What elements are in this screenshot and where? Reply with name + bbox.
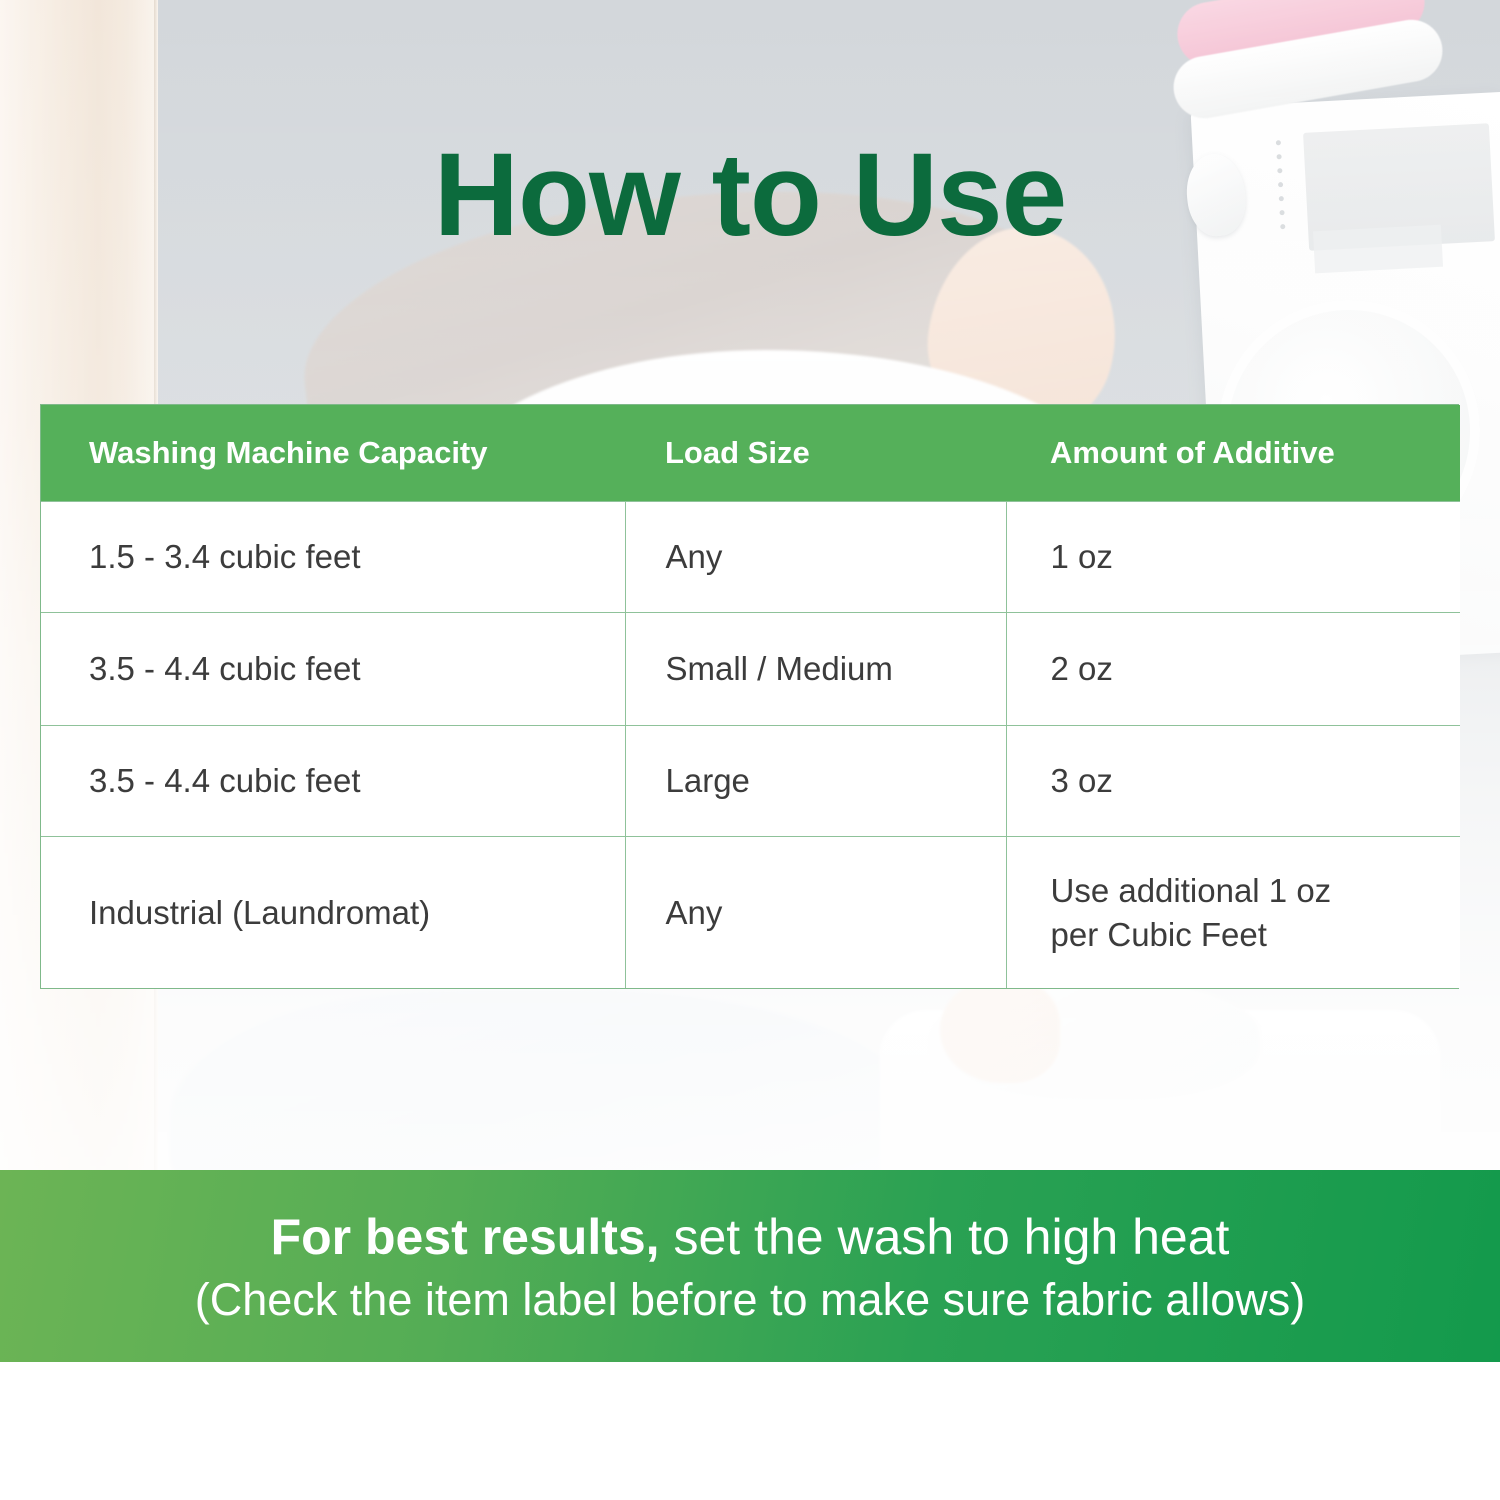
table-row: 3.5 - 4.4 cubic feet Large 3 oz <box>41 726 1460 837</box>
cell-additive: 1 oz <box>1006 502 1460 613</box>
cell-capacity: Industrial (Laundromat) <box>41 837 625 989</box>
infographic-page: How to Use Washing Machine Capacity Load… <box>0 0 1500 1500</box>
table-row: Industrial (Laundromat) Any Use addition… <box>41 837 1460 989</box>
cell-load-size: Small / Medium <box>625 613 1006 726</box>
table-body: 1.5 - 3.4 cubic feet Any 1 oz 3.5 - 4.4 … <box>41 502 1460 989</box>
cell-additive-line-2: per Cubic Feet <box>1051 913 1461 957</box>
cell-capacity: 3.5 - 4.4 cubic feet <box>41 726 625 837</box>
cell-additive: 3 oz <box>1006 726 1460 837</box>
usage-table-container: Washing Machine Capacity Load Size Amoun… <box>40 404 1459 989</box>
cell-capacity: 3.5 - 4.4 cubic feet <box>41 613 625 726</box>
cell-load-size: Any <box>625 837 1006 989</box>
cell-load-size: Large <box>625 726 1006 837</box>
banner-secondary-line: (Check the item label before to make sur… <box>195 1273 1305 1327</box>
page-title: How to Use <box>0 136 1500 254</box>
cell-capacity: 1.5 - 3.4 cubic feet <box>41 502 625 613</box>
cell-load-size: Any <box>625 502 1006 613</box>
column-header-additive: Amount of Additive <box>1006 405 1460 502</box>
cell-additive-line-1: Use additional 1 oz <box>1051 869 1461 913</box>
column-header-capacity: Washing Machine Capacity <box>41 405 625 502</box>
usage-table: Washing Machine Capacity Load Size Amoun… <box>41 405 1460 988</box>
table-row: 3.5 - 4.4 cubic feet Small / Medium 2 oz <box>41 613 1460 726</box>
column-header-load-size: Load Size <box>625 405 1006 502</box>
banner-bold-text: For best results, <box>271 1209 660 1265</box>
table-row: 1.5 - 3.4 cubic feet Any 1 oz <box>41 502 1460 613</box>
banner-primary-line: For best results, set the wash to high h… <box>271 1209 1230 1265</box>
cell-additive: Use additional 1 oz per Cubic Feet <box>1006 837 1460 989</box>
cell-additive: 2 oz <box>1006 613 1460 726</box>
banner-regular-text: set the wash to high heat <box>660 1209 1230 1265</box>
best-results-banner: For best results, set the wash to high h… <box>0 1170 1500 1362</box>
table-header: Washing Machine Capacity Load Size Amoun… <box>41 405 1460 502</box>
table-header-row: Washing Machine Capacity Load Size Amoun… <box>41 405 1460 502</box>
